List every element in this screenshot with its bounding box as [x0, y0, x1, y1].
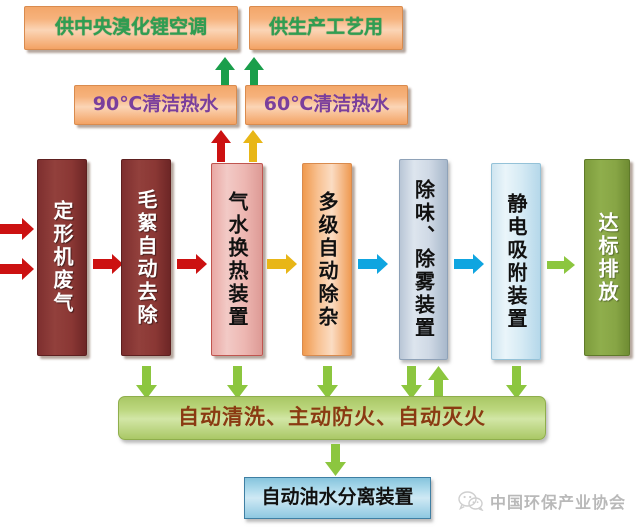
arrow-exhaust-to-lint	[93, 254, 123, 274]
arrow-down-decontamination-to-support	[317, 366, 338, 399]
supply-box-production-process: 供生产工艺用	[249, 6, 403, 50]
process-box-label: 气水换热装置	[227, 191, 247, 329]
arrow-deodorize-to-electrostatic	[454, 254, 484, 274]
process-box-air-water-heat-exchanger: 气水换热装置	[211, 163, 263, 356]
process-box-compliant-discharge: 达标排放	[584, 159, 630, 356]
supply-box-central-bromide-ac: 供中央溴化锂空调	[24, 6, 238, 50]
arrow-decontamination-to-deodorize	[358, 254, 388, 274]
process-box-multistage-auto-decontamination: 多级自动除杂	[302, 163, 352, 356]
arrow-electrostatic-to-discharge	[547, 256, 575, 274]
association-watermark: 中国环保产业协会	[458, 489, 626, 513]
process-box-label: 除味、除雾装置	[414, 179, 434, 340]
supply-box-label: 供生产工艺用	[269, 18, 383, 37]
process-box-label: 静电吸附装置	[506, 193, 526, 331]
supply-box-label: 供中央溴化锂空调	[55, 18, 207, 37]
wechat-icon	[458, 491, 484, 511]
process-box-deodorize-demist-device: 除味、除雾装置	[399, 159, 448, 360]
arrow-down-deodorize-to-support	[401, 366, 422, 399]
arrow-up-red-to-90c	[211, 130, 231, 162]
arrow-heat-exchanger-to-decontamination	[267, 254, 297, 274]
temperature-box-60c: 60℃清洁热水	[245, 85, 408, 125]
process-box-lint-auto-removal: 毛絮自动去除	[121, 159, 171, 356]
support-bar-label: 自动清洗、主动防火、自动灭火	[178, 407, 486, 428]
temperature-box-label: 90℃清洁热水	[93, 95, 218, 114]
arrow-down-electrostatic-to-support	[506, 366, 527, 399]
arrow-support-to-separator	[325, 444, 346, 476]
arrow-up-gold-to-60c	[243, 130, 263, 162]
support-bar-auto-clean-fire: 自动清洗、主动防火、自动灭火	[118, 396, 546, 440]
arrow-lint-to-heat-exchanger	[177, 254, 207, 274]
temperature-box-90c: 90℃清洁热水	[74, 85, 237, 125]
flowchart-canvas: 供中央溴化锂空调 供生产工艺用 90℃清洁热水 60℃清洁热水	[0, 0, 640, 530]
watermark-label: 中国环保产业协会	[490, 489, 626, 513]
temperature-box-label: 60℃清洁热水	[264, 95, 389, 114]
separator-box-label: 自动油水分离装置	[261, 488, 413, 507]
arrow-input-exhaust-top	[0, 218, 34, 240]
arrow-down-lint-to-support	[136, 366, 157, 399]
separator-box-oil-water: 自动油水分离装置	[244, 477, 431, 519]
process-box-label: 多级自动除杂	[317, 191, 337, 329]
arrow-up-support-to-deodorize	[428, 366, 449, 399]
process-box-electrostatic-adsorption-device: 静电吸附装置	[491, 163, 541, 360]
process-box-setting-machine-exhaust: 定形机废气	[37, 159, 87, 356]
process-box-label: 定形机废气	[52, 200, 72, 315]
arrow-input-exhaust-bottom	[0, 258, 34, 280]
process-box-label: 毛絮自动去除	[136, 189, 156, 327]
arrow-down-heat-exchanger-to-support	[227, 366, 248, 399]
process-box-label: 达标排放	[597, 212, 617, 304]
